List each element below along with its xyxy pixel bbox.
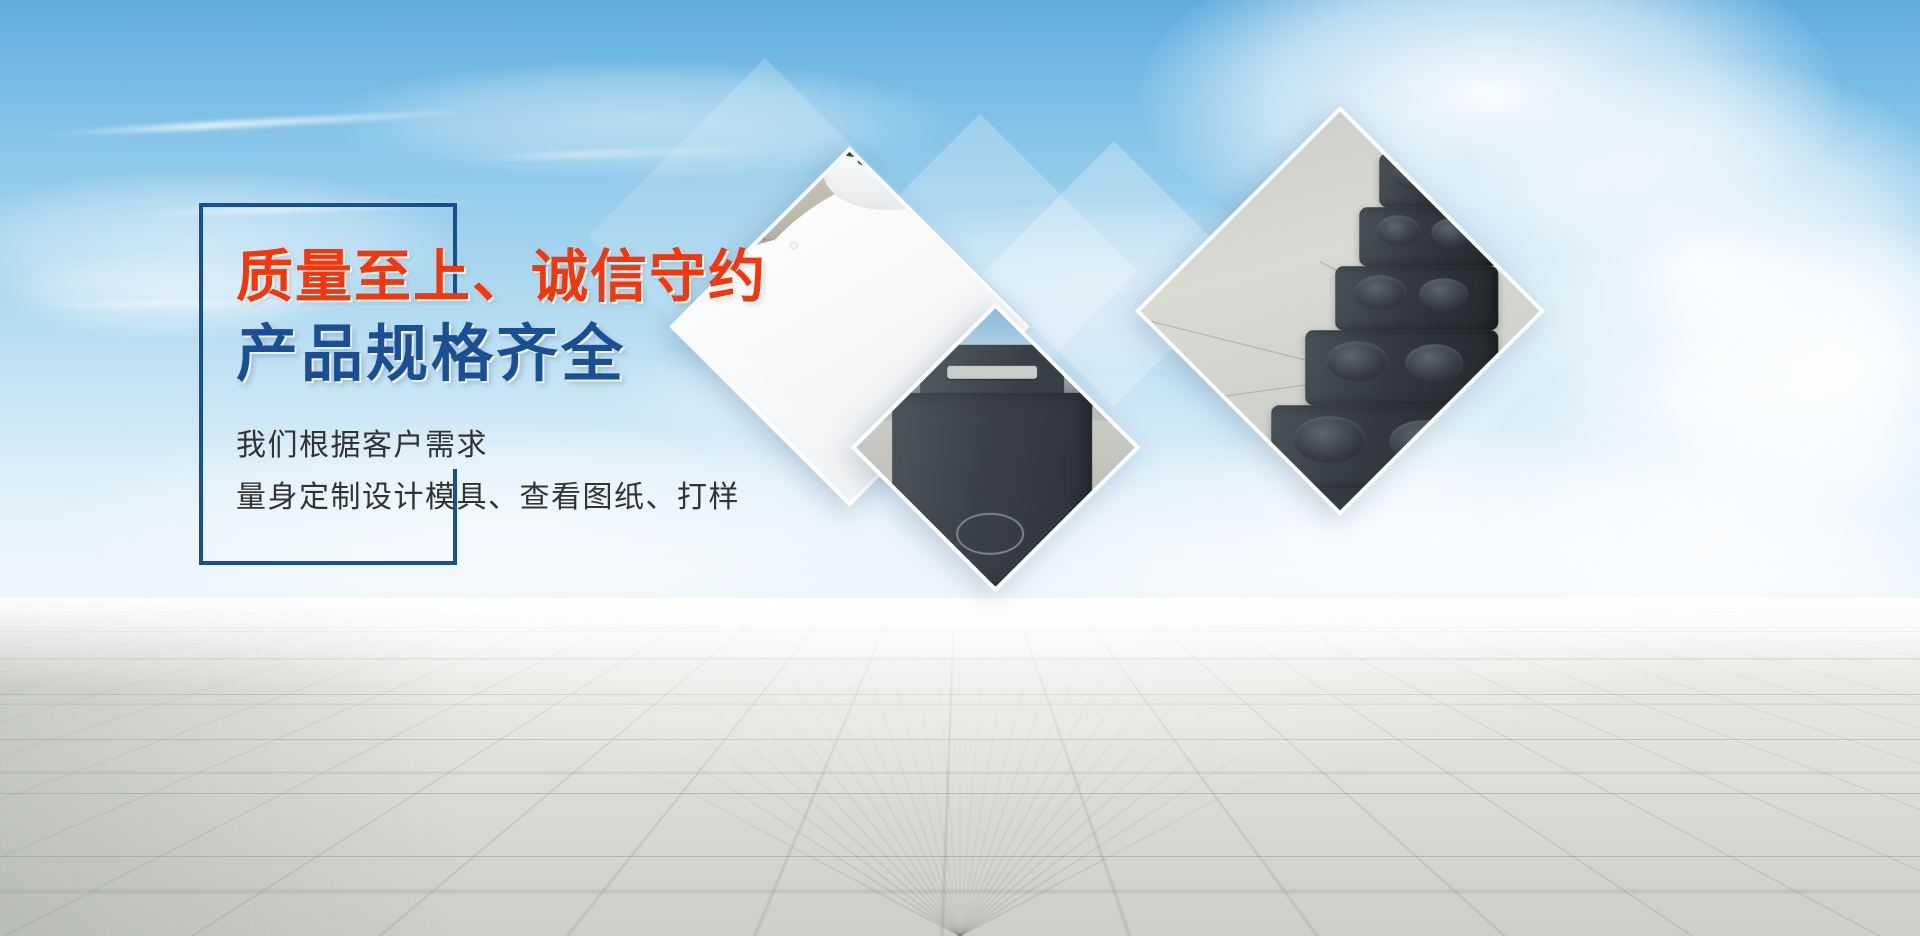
subtitle-line-1: 我们根据客户需求 bbox=[236, 420, 767, 472]
bin-handle-slot bbox=[947, 365, 1037, 379]
cloud-shape bbox=[1640, 220, 1920, 520]
frame-edge-top bbox=[199, 203, 457, 207]
plaza-ground bbox=[0, 598, 1920, 936]
subtitle-line-2: 量身定制设计模具、查看图纸、打样 bbox=[236, 472, 767, 524]
headline-primary-red: 质量至上、诚信守约 bbox=[236, 246, 767, 308]
horizon-haze bbox=[0, 598, 1920, 688]
banner-copy-block: 质量至上、诚信守约 产品规格齐全 我们根据客户需求 量身定制设计模具、查看图纸、… bbox=[236, 246, 767, 524]
promo-banner: 质量至上、诚信守约 产品规格齐全 我们根据客户需求 量身定制设计模具、查看图纸、… bbox=[0, 0, 1920, 936]
bin-embossed-oval bbox=[956, 512, 1024, 554]
frame-edge-bottom bbox=[199, 561, 457, 565]
subtitle-block: 我们根据客户需求 量身定制设计模具、查看图纸、打样 bbox=[236, 420, 767, 524]
headline-secondary-blue: 产品规格齐全 bbox=[236, 320, 767, 390]
cloud-streak bbox=[40, 109, 460, 138]
frame-edge-left bbox=[199, 203, 203, 565]
cloud-streak bbox=[460, 145, 760, 162]
